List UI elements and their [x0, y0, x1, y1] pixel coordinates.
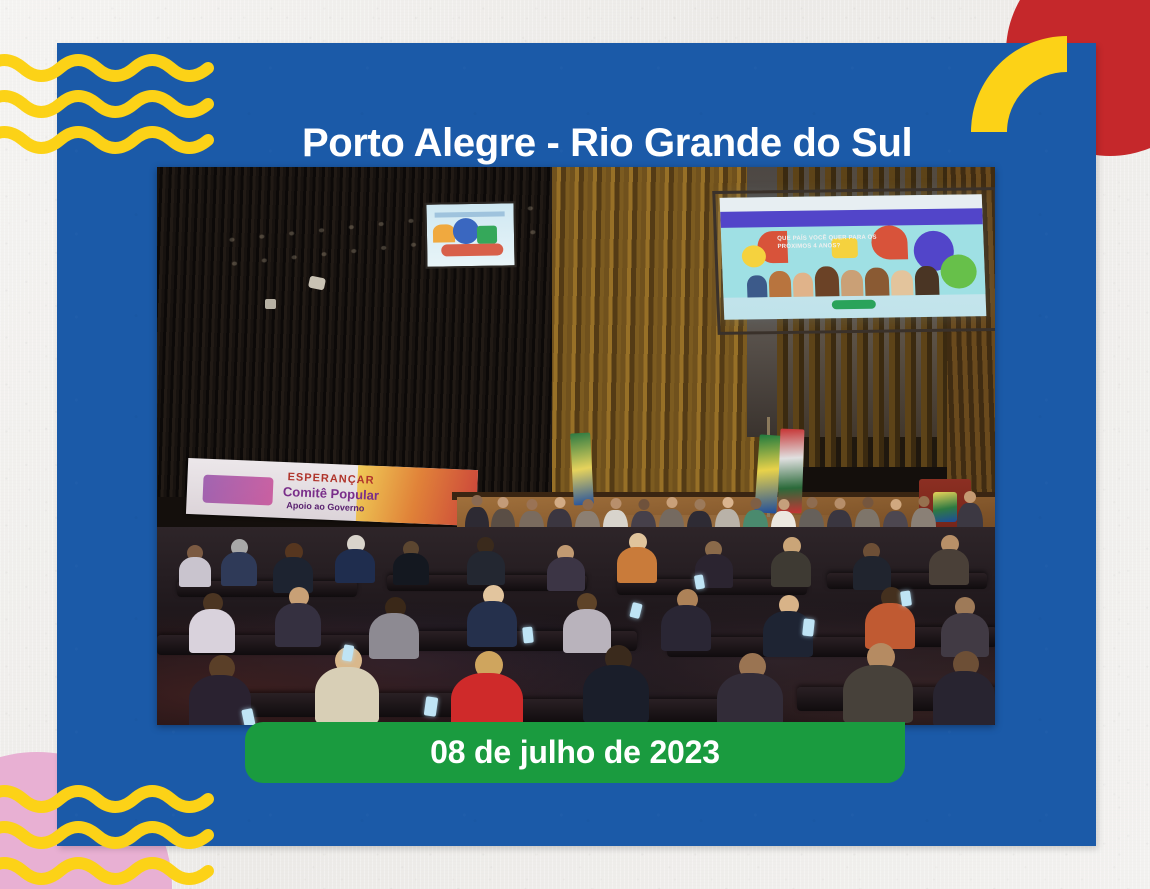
banner-logo-mark — [202, 475, 273, 506]
screen-top-strip — [435, 211, 505, 217]
screen-shape-d — [441, 243, 503, 256]
page-title: Porto Alegre - Rio Grande do Sul — [302, 119, 1032, 167]
yellow-arc-decoration — [963, 28, 1071, 136]
screen-shape-c — [477, 226, 497, 244]
wave-lines-top-left — [0, 50, 236, 160]
spotlight-fixture-2 — [265, 299, 276, 309]
main-screen-frame — [712, 187, 995, 335]
secondary-projection-screen — [424, 201, 516, 269]
protest-banner: ESPERANÇAR Comitê Popular Apoio ao Gover… — [186, 458, 478, 526]
date-label: 08 de julho de 2023 — [430, 734, 720, 771]
audience-crowd — [157, 527, 995, 725]
screen-shape-b — [453, 218, 479, 244]
blue-card-panel: Porto Alegre - Rio Grande do Sul — [57, 43, 1096, 846]
poster-canvas: Porto Alegre - Rio Grande do Sul — [0, 0, 1150, 889]
banner-line-3: Apoio ao Governo — [286, 500, 364, 513]
event-photo: QUE PAÍS VOCÊ QUER PARA OS PRÓXIMOS 4 AN… — [157, 167, 995, 725]
screen-shape-a — [433, 224, 455, 242]
wave-lines-bottom-left — [0, 785, 236, 889]
date-banner: 08 de julho de 2023 — [245, 722, 905, 783]
